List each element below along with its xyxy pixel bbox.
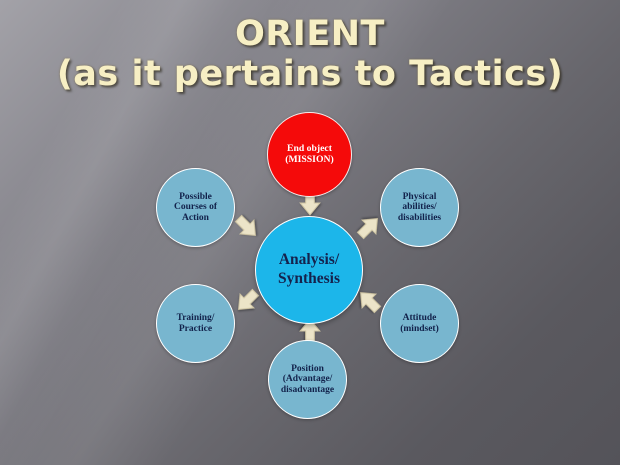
- node-possible-courses-line-3: Action: [182, 213, 209, 223]
- node-position-label: Position (Advantage/ disadvantage: [269, 364, 346, 396]
- node-possible-courses-line-1: Possible: [179, 192, 212, 202]
- node-end-object-line-1: End object: [287, 143, 332, 154]
- page-title: ORIENT (as it pertains to Tactics): [0, 14, 620, 94]
- slide-canvas: ORIENT (as it pertains to Tactics) End o…: [0, 0, 620, 465]
- node-training-practice-line-1: Training/: [177, 313, 215, 323]
- title-line-2: (as it pertains to Tactics): [0, 54, 620, 94]
- node-possible-courses-line-2: Courses of: [174, 202, 217, 212]
- node-analysis-synthesis[interactable]: Analysis/ Synthesis: [255, 216, 363, 324]
- node-position-line-1: Position: [291, 364, 324, 374]
- title-line-1: ORIENT: [235, 14, 385, 54]
- node-possible-courses-of-action[interactable]: Possible Courses of Action: [156, 168, 235, 247]
- node-position-line-2: (Advantage/: [283, 374, 333, 384]
- node-physical-abilities-label: Physical abilities/ disabilities: [381, 192, 458, 224]
- node-training-practice[interactable]: Training/ Practice: [156, 284, 235, 363]
- node-training-practice-label: Training/ Practice: [157, 313, 234, 334]
- node-analysis-synthesis-label: Analysis/ Synthesis: [256, 251, 362, 288]
- node-physical-abilities-line-1: Physical: [403, 192, 437, 202]
- node-attitude-line-1: Attitude: [403, 313, 437, 323]
- node-end-object-line-2: (MISSION): [285, 154, 333, 165]
- node-possible-courses-label: Possible Courses of Action: [157, 192, 234, 224]
- node-position-line-3: disadvantage: [281, 385, 334, 395]
- node-physical-abilities-line-3: disabilities: [398, 213, 441, 223]
- node-attitude-label: Attitude (mindset): [381, 313, 458, 334]
- node-physical-abilities-line-2: abilities/: [402, 202, 436, 212]
- node-training-practice-line-2: Practice: [179, 324, 212, 334]
- node-attitude-line-2: (mindset): [400, 324, 439, 334]
- node-end-object[interactable]: End object (MISSION): [267, 112, 352, 197]
- node-end-object-label: End object (MISSION): [268, 144, 351, 166]
- node-physical-abilities[interactable]: Physical abilities/ disabilities: [380, 168, 459, 247]
- node-analysis-synthesis-line-1: Analysis/: [279, 251, 339, 268]
- node-attitude[interactable]: Attitude (mindset): [380, 284, 459, 363]
- node-analysis-synthesis-line-2: Synthesis: [278, 270, 340, 287]
- node-position[interactable]: Position (Advantage/ disadvantage: [268, 340, 347, 419]
